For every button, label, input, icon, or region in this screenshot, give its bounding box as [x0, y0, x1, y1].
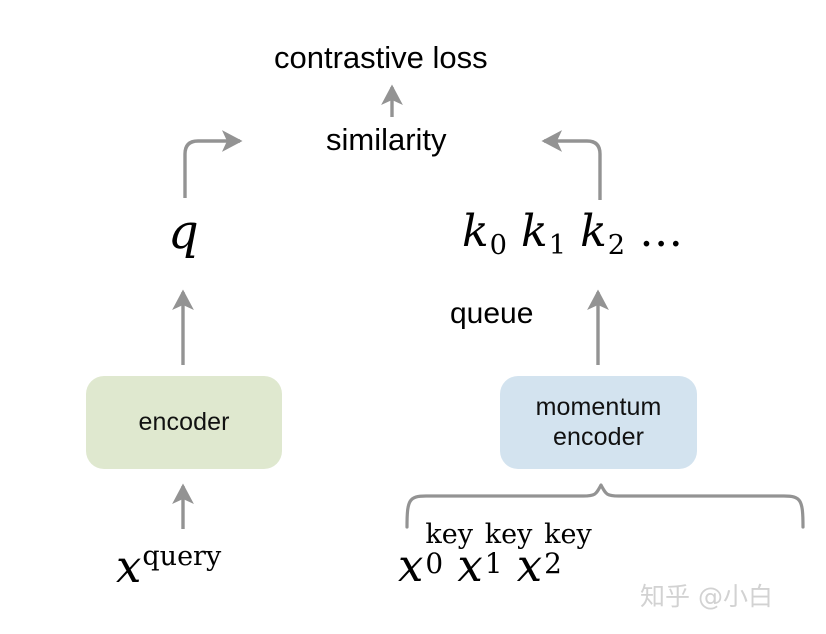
encoder-box[interactable]: encoder — [86, 376, 282, 469]
queue-label: queue — [450, 297, 533, 331]
x-key-symbols: xkey0xkey1xkey2 — [398, 536, 542, 592]
key-symbol-1: k1 — [521, 206, 566, 257]
keys-ellipsis: … — [639, 206, 685, 257]
query-symbol-base: q — [168, 204, 199, 260]
x-query-base: x — [116, 540, 141, 593]
momentum-encoder-box[interactable]: momentumencoder — [500, 376, 697, 469]
query-symbol: q — [168, 204, 199, 260]
key-symbol-0: k0 — [462, 206, 507, 257]
momentum-encoder-label-line1: momentum — [536, 393, 662, 421]
contrastive-loss-label: contrastive loss — [274, 40, 488, 76]
arrow-query-to-similarity — [185, 141, 240, 198]
key-symbols: k0k1k2… — [462, 206, 685, 261]
momentum-encoder-label-line2: encoder — [553, 423, 644, 451]
watermark: 知乎 @小白 — [640, 577, 773, 613]
x-query-symbol: xquery — [116, 540, 221, 593]
x-key-symbol-0: xkey0 — [398, 539, 423, 592]
arrow-keys-to-similarity — [544, 141, 600, 200]
x-query-superscript: query — [142, 541, 221, 572]
diagram-canvas: contrastive loss similarity queue q k0k1… — [0, 0, 826, 634]
momentum-encoder-label: momentumencoder — [536, 393, 662, 452]
key-symbol-2: k2 — [580, 206, 625, 257]
similarity-label: similarity — [326, 122, 447, 158]
encoder-label: encoder — [138, 408, 229, 438]
